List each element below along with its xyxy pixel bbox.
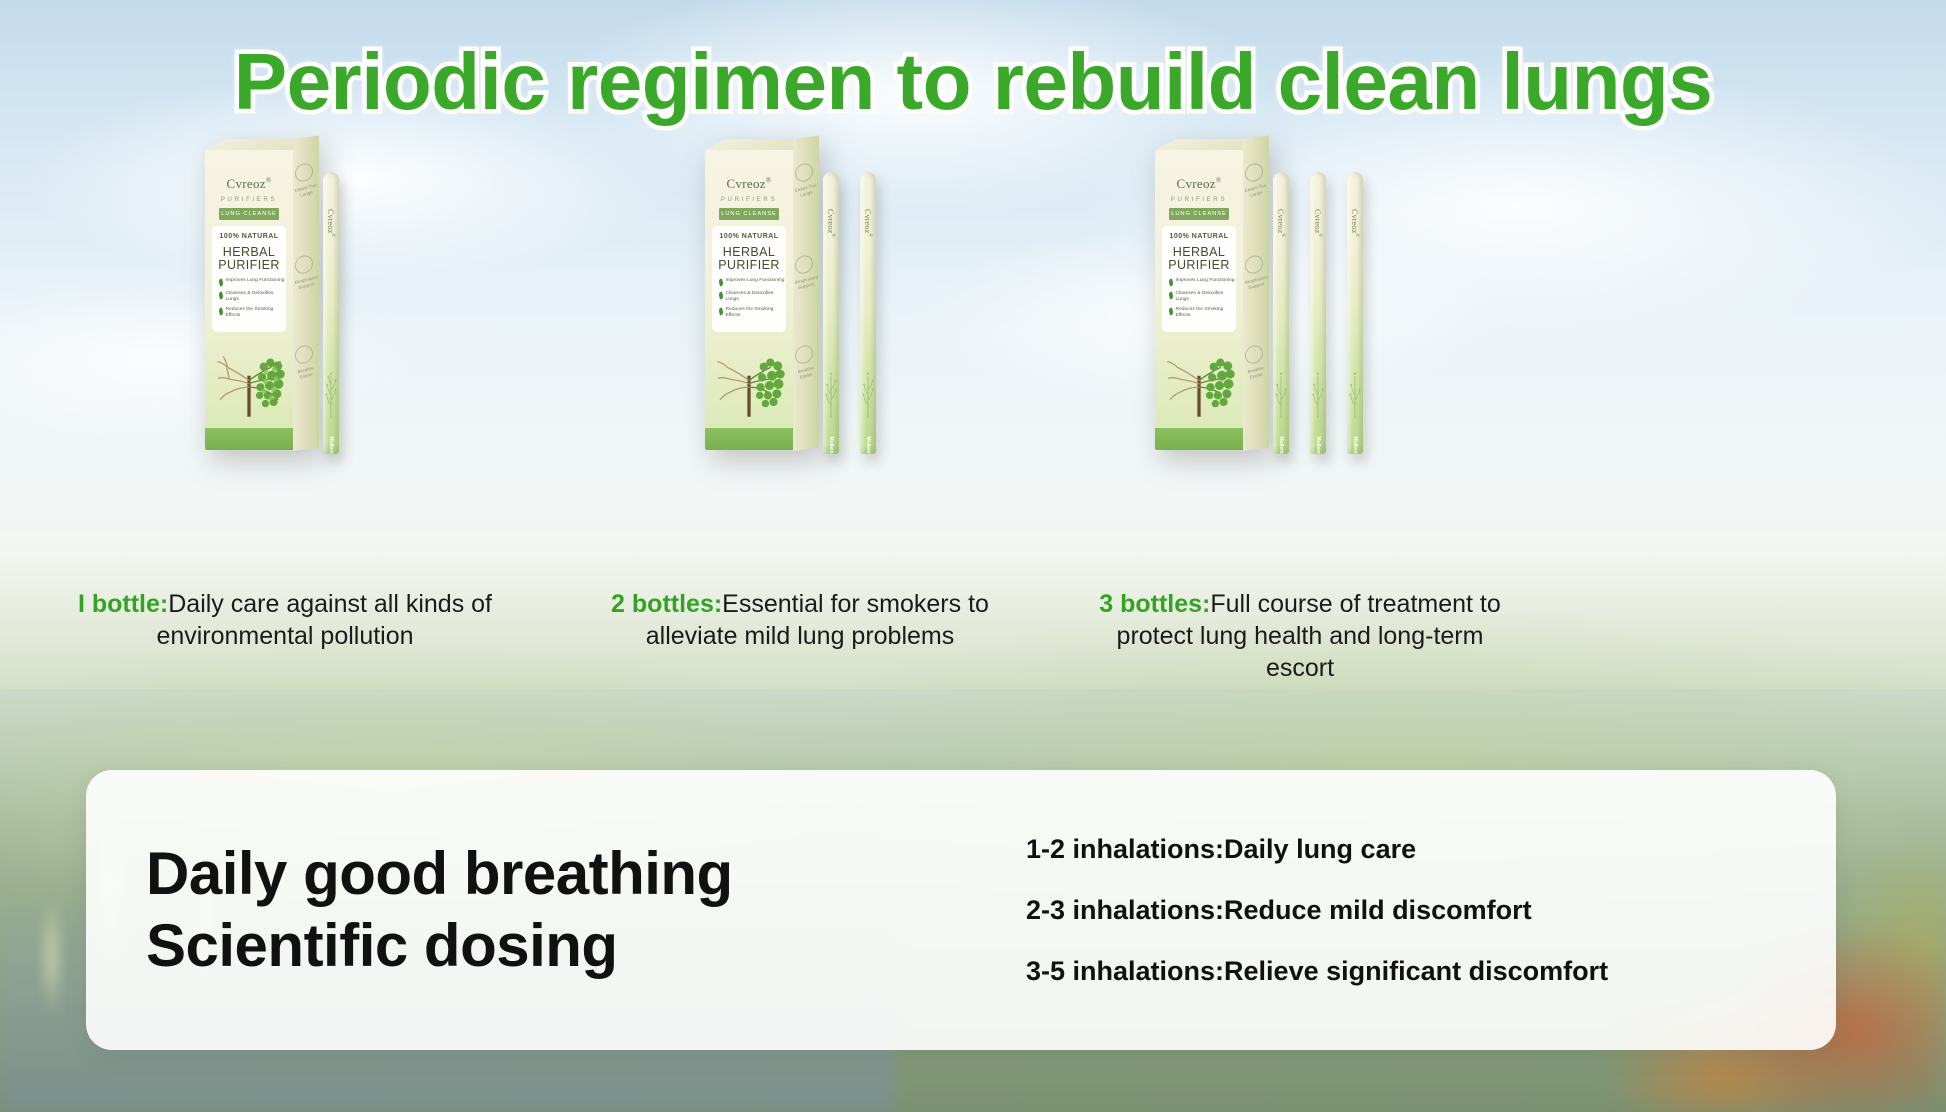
- side-label-respiratory-support: Respiratory Support: [1244, 275, 1267, 292]
- leaf-icon: [718, 292, 724, 300]
- carton-side-panel: Eases The Lungs Respiratory Support Brea…: [293, 136, 319, 451]
- tagline-line1: Daily good breathing: [146, 838, 1026, 910]
- breathe-easier-icon: [295, 344, 313, 364]
- caption-lead: 2 bottles:: [611, 590, 722, 618]
- carton-benefit-item: Cleanses & Detoxifies Lungs: [1169, 291, 1235, 302]
- carton-brand-text: Cvreoz: [227, 176, 266, 191]
- stick-brand-label: Cvreoz®: [1276, 209, 1286, 237]
- carton-product-title: HERBALPURIFIER: [712, 246, 786, 272]
- carton-white-panel: 100% NATURAL HERBALPURIFIER Improves Lun…: [212, 226, 286, 332]
- stick-brand-label: Cvreoz®: [863, 209, 873, 237]
- carton-bottom-bar: [205, 428, 293, 450]
- product-group-two-bottles: Eases The Lungs Respiratory Support Brea…: [705, 150, 955, 480]
- carton-natural-claim: 100% NATURAL: [712, 233, 786, 240]
- caption-lead: I bottle:: [78, 590, 168, 618]
- carton-bottom-bar: [705, 428, 793, 450]
- caption-three-bottles: 3 bottles:Full course of treatment to pr…: [1085, 588, 1515, 684]
- dosing-card-tagline: Daily good breathing Scientific dosing: [86, 838, 1026, 982]
- breathe-easier-icon: [795, 344, 813, 364]
- lung-tree-illustration: [1158, 338, 1240, 420]
- caption-lead: 3 bottles:: [1099, 590, 1210, 618]
- stick-flavor-label: Mullein: [828, 436, 834, 453]
- herb-illustration: [825, 364, 838, 420]
- inhaler-stick: Cvreoz® Mullein: [823, 172, 839, 454]
- herb-illustration: [1312, 364, 1325, 420]
- herb-illustration: [325, 364, 338, 420]
- product-group-three-bottles: Eases The Lungs Respiratory Support Brea…: [1155, 150, 1465, 480]
- stick-flavor-label: Mullein: [865, 436, 871, 453]
- carton-front-face: Cvreoz® PURIFIERS LUNG CLEANSE 100% NATU…: [705, 150, 793, 450]
- inhaler-stick: Cvreoz® Mullein: [1347, 172, 1363, 454]
- dose-item: 3-5 inhalations:Relieve significant disc…: [1026, 954, 1796, 988]
- side-label-eases-lungs: Eases The Lungs: [794, 183, 817, 200]
- leaf-icon: [718, 279, 724, 287]
- eases-lungs-icon: [295, 162, 313, 182]
- carton-benefit-item: Reduces the Smoking Effects: [219, 307, 285, 318]
- carton-side-panel: Eases The Lungs Respiratory Support Brea…: [1243, 136, 1269, 451]
- inhaler-stick: Cvreoz® Mullein: [1273, 172, 1289, 454]
- eases-lungs-icon: [1245, 162, 1263, 182]
- dosing-card: Daily good breathing Scientific dosing 1…: [86, 770, 1836, 1050]
- carton-benefit-item: Cleanses & Detoxifies Lungs: [219, 291, 285, 302]
- stick-brand-label: Cvreoz®: [1313, 209, 1323, 237]
- dosing-list: 1-2 inhalations:Daily lung care 2-3 inha…: [1026, 832, 1836, 988]
- carton-brand: Cvreoz®: [1155, 176, 1243, 192]
- inhaler-stick: Cvreoz® Mullein: [323, 172, 339, 454]
- herb-illustration: [1349, 364, 1362, 420]
- carton-benefit-item: Reduces the Smoking Effects: [1169, 307, 1235, 318]
- caption-one-bottle: I bottle:Daily care against all kinds of…: [70, 588, 500, 652]
- carton-benefits-list: Improves Lung Functioning Cleanses & Det…: [1169, 278, 1235, 323]
- side-label-respiratory-support: Respiratory Support: [794, 275, 817, 292]
- caption-text: Daily care against all kinds of environm…: [156, 590, 492, 650]
- carton-product-title: HERBALPURIFIER: [212, 246, 286, 272]
- stick-brand-label: Cvreoz®: [326, 209, 336, 237]
- respiratory-support-icon: [1245, 254, 1263, 274]
- lung-tree-illustration: [708, 338, 790, 420]
- carton-product-title: HERBALPURIFIER: [1162, 246, 1236, 272]
- carton-bottom-bar: [1155, 428, 1243, 450]
- leaf-icon: [218, 308, 224, 316]
- stick-brand-label: Cvreoz®: [1350, 209, 1360, 237]
- carton-badge-lung-cleanse: LUNG CLEANSE: [219, 208, 279, 220]
- leaf-icon: [1168, 279, 1174, 287]
- stick-flavor-label: Mullein: [328, 436, 334, 453]
- product-groups: Eases The Lungs Respiratory Support Brea…: [0, 150, 1946, 590]
- respiratory-support-icon: [295, 254, 313, 274]
- side-label-breathe-easier: Breathe Easier: [794, 365, 817, 382]
- herb-illustration: [1275, 364, 1288, 420]
- side-label-breathe-easier: Breathe Easier: [294, 365, 317, 382]
- carton-subbrand: PURIFIERS: [205, 196, 293, 203]
- carton-white-panel: 100% NATURAL HERBALPURIFIER Improves Lun…: [1162, 226, 1236, 332]
- carton-brand: Cvreoz®: [705, 176, 793, 192]
- respiratory-support-icon: [795, 254, 813, 274]
- trademark-symbol: ®: [266, 177, 272, 185]
- carton-benefit-item: Improves Lung Functioning: [1169, 278, 1235, 286]
- carton-brand: Cvreoz®: [205, 176, 293, 192]
- carton-natural-claim: 100% NATURAL: [1162, 233, 1236, 240]
- product-carton: Eases The Lungs Respiratory Support Brea…: [705, 150, 793, 450]
- carton-benefit-item: Cleanses & Detoxifies Lungs: [719, 291, 785, 302]
- stick-brand-label: Cvreoz®: [826, 209, 836, 237]
- product-group-one-bottle: Eases The Lungs Respiratory Support Brea…: [205, 150, 405, 480]
- carton-benefits-list: Improves Lung Functioning Cleanses & Det…: [219, 278, 285, 323]
- dose-item: 2-3 inhalations:Reduce mild discomfort: [1026, 893, 1796, 927]
- side-label-eases-lungs: Eases The Lungs: [1244, 183, 1267, 200]
- carton-badge-lung-cleanse: LUNG CLEANSE: [1169, 208, 1229, 220]
- carton-subbrand: PURIFIERS: [1155, 196, 1243, 203]
- side-label-respiratory-support: Respiratory Support: [294, 275, 317, 292]
- carton-benefits-list: Improves Lung Functioning Cleanses & Det…: [719, 278, 785, 323]
- carton-benefit-item: Improves Lung Functioning: [719, 278, 785, 286]
- carton-benefit-item: Reduces the Smoking Effects: [719, 307, 785, 318]
- caption-two-bottles: 2 bottles:Essential for smokers to allev…: [600, 588, 1000, 652]
- carton-white-panel: 100% NATURAL HERBALPURIFIER Improves Lun…: [712, 226, 786, 332]
- carton-title-line2: PURIFIER: [218, 258, 280, 272]
- carton-title-line1: HERBAL: [223, 245, 275, 259]
- stick-flavor-label: Mullein: [1352, 436, 1358, 453]
- stick-flavor-label: Mullein: [1315, 436, 1321, 453]
- leaf-icon: [1168, 308, 1174, 316]
- inhaler-stick: Cvreoz® Mullein: [860, 172, 876, 454]
- breathe-easier-icon: [1245, 344, 1263, 364]
- leaf-icon: [218, 292, 224, 300]
- lung-tree-illustration: [208, 338, 290, 420]
- herb-illustration: [862, 364, 875, 420]
- leaf-icon: [218, 279, 224, 287]
- inhaler-stick: Cvreoz® Mullein: [1310, 172, 1326, 454]
- eases-lungs-icon: [795, 162, 813, 182]
- tagline-line2: Scientific dosing: [146, 910, 1026, 982]
- dose-item: 1-2 inhalations:Daily lung care: [1026, 832, 1796, 866]
- leaf-icon: [1168, 292, 1174, 300]
- carton-benefit-item: Improves Lung Functioning: [219, 278, 285, 286]
- carton-front-face: Cvreoz® PURIFIERS LUNG CLEANSE 100% NATU…: [205, 150, 293, 450]
- product-carton: Eases The Lungs Respiratory Support Brea…: [205, 150, 293, 450]
- carton-side-panel: Eases The Lungs Respiratory Support Brea…: [793, 136, 819, 451]
- carton-front-face: Cvreoz® PURIFIERS LUNG CLEANSE 100% NATU…: [1155, 150, 1243, 450]
- carton-natural-claim: 100% NATURAL: [212, 233, 286, 240]
- leaf-icon: [718, 308, 724, 316]
- carton-subbrand: PURIFIERS: [705, 196, 793, 203]
- side-label-breathe-easier: Breathe Easier: [1244, 365, 1267, 382]
- side-label-eases-lungs: Eases The Lungs: [294, 183, 317, 200]
- page-headline: Periodic regimen to rebuild clean lungs: [0, 36, 1946, 128]
- stick-flavor-label: Mullein: [1278, 436, 1284, 453]
- product-carton: Eases The Lungs Respiratory Support Brea…: [1155, 150, 1243, 450]
- carton-badge-lung-cleanse: LUNG CLEANSE: [719, 208, 779, 220]
